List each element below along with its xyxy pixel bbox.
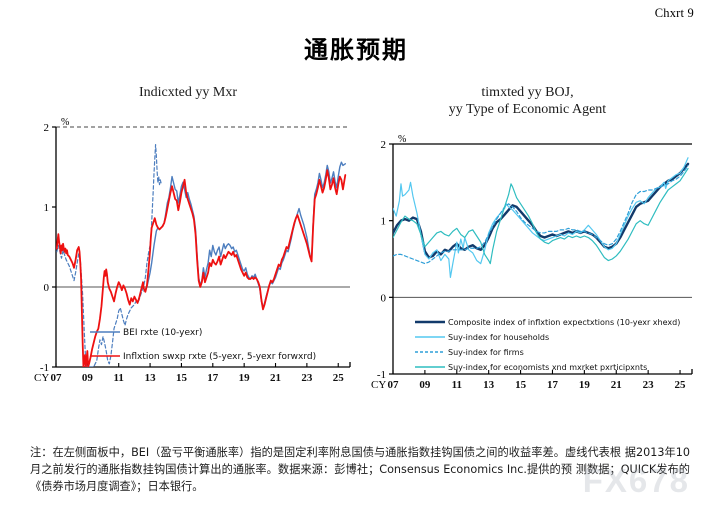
x-axis-prefix-label: CY bbox=[34, 372, 49, 384]
left-plot-wrapper: -1012%07091113151719212325CYBEI rxte (10… bbox=[18, 109, 358, 409]
series-line bbox=[393, 158, 688, 278]
x-tick-label: 07 bbox=[51, 372, 63, 384]
legend-label: Suy-index for households bbox=[448, 333, 549, 342]
y-tick-label: 1 bbox=[381, 216, 387, 228]
legend-label: Suy-index for firms bbox=[448, 348, 524, 357]
chart-page: Chxrt 9 通胀预期 Indicxted yy Mxr -1012%0709… bbox=[0, 0, 712, 516]
footnote-line-1: 注：在左侧面板中，BEI（盈亏平衡通胀率）指的是固定利率附息国债与通胀指数挂钩国… bbox=[30, 446, 621, 459]
legend-label: Inflxtion swxp rxte (5-yexr, 5-yexr forw… bbox=[123, 352, 316, 362]
chart-legend: BEI rxte (10-yexr)Inflxtion swxp rxte (5… bbox=[90, 328, 316, 362]
left-panel-title: Indicxted yy Mxr bbox=[18, 84, 358, 101]
x-tick-label: 11 bbox=[114, 372, 124, 384]
series-line bbox=[393, 169, 688, 264]
x-tick-label: 09 bbox=[419, 379, 431, 391]
x-tick-label: 21 bbox=[270, 372, 281, 384]
x-tick-label: 19 bbox=[239, 372, 251, 384]
y-axis-unit-label: % bbox=[398, 134, 406, 145]
y-tick-label: 0 bbox=[381, 292, 387, 304]
y-tick-label: 0 bbox=[44, 282, 50, 294]
x-tick-label: 25 bbox=[333, 372, 345, 384]
legend-label: BEI rxte (10-yexr) bbox=[123, 328, 202, 338]
x-tick-label: 17 bbox=[547, 379, 559, 391]
series-line bbox=[393, 165, 688, 263]
right-panel-title-line1: timxted yy BOJ, bbox=[355, 84, 700, 101]
x-tick-label: 15 bbox=[176, 372, 188, 384]
x-tick-label: 15 bbox=[515, 379, 527, 391]
series-line bbox=[144, 162, 345, 308]
page-title: 通胀预期 bbox=[0, 30, 712, 65]
footnote-block: 注：在左侧面板中，BEI（盈亏平衡通胀率）指的是固定利率附息国债与通胀指数挂钩国… bbox=[30, 444, 690, 495]
chart-legend: Composite index of inflxtion expectxtion… bbox=[415, 318, 680, 372]
series-line bbox=[393, 164, 688, 258]
right-chart-svg: -1012%07091113151719212325CYComposite in… bbox=[355, 126, 700, 411]
x-axis-prefix-label: CY bbox=[371, 379, 386, 391]
x-tick-label: 17 bbox=[207, 372, 219, 384]
right-plot-wrapper: -1012%07091113151719212325CYComposite in… bbox=[355, 126, 700, 411]
chart-number-label: Chxrt 9 bbox=[655, 6, 694, 21]
x-tick-label: 11 bbox=[452, 379, 462, 391]
right-panel-title-line2: yy Type of Economic Agent bbox=[355, 101, 700, 118]
left-panel: Indicxted yy Mxr -1012%07091113151719212… bbox=[18, 84, 358, 409]
y-axis-unit-label: % bbox=[61, 117, 69, 128]
x-tick-label: 09 bbox=[82, 372, 94, 384]
x-tick-label: 13 bbox=[483, 379, 495, 391]
x-tick-label: 23 bbox=[643, 379, 655, 391]
left-chart-svg: -1012%07091113151719212325CYBEI rxte (10… bbox=[18, 109, 358, 409]
legend-label: Composite index of inflxtion expectxtion… bbox=[448, 318, 680, 327]
y-tick-label: 2 bbox=[44, 122, 50, 134]
x-tick-label: 21 bbox=[611, 379, 622, 391]
legend-label: Suy-index for economists xnd mxrket pxrt… bbox=[448, 363, 647, 372]
x-tick-label: 07 bbox=[388, 379, 400, 391]
right-panel: timxted yy BOJ, yy Type of Economic Agen… bbox=[355, 84, 700, 411]
x-tick-label: 25 bbox=[675, 379, 687, 391]
x-tick-label: 19 bbox=[579, 379, 591, 391]
x-tick-label: 13 bbox=[145, 372, 157, 384]
x-tick-label: 23 bbox=[301, 372, 313, 384]
y-tick-label: 1 bbox=[44, 202, 50, 214]
y-tick-label: 2 bbox=[381, 139, 387, 151]
